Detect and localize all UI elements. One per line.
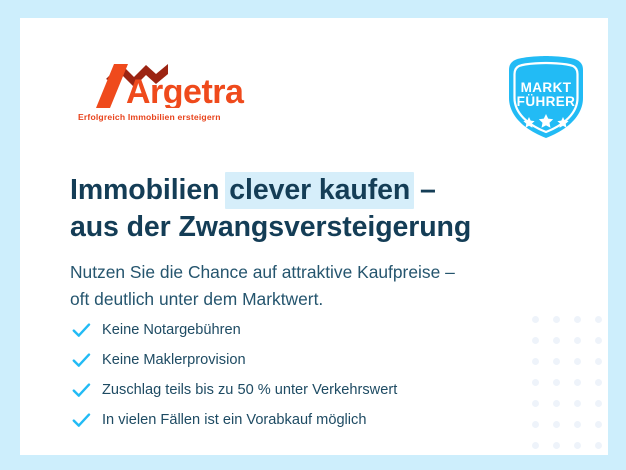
promo-card: Argetra Erfolgreich Immobilien ersteiger… (20, 18, 608, 455)
headline-line-2: aus der Zwangsversteigerung (70, 210, 590, 244)
decoration-dot (553, 316, 560, 323)
benefit-label: Keine Notargebühren (102, 321, 241, 339)
decoration-dot (574, 316, 581, 323)
dot-grid-decoration (532, 316, 608, 455)
decoration-dot (553, 379, 560, 386)
decoration-dot (574, 358, 581, 365)
check-icon (72, 353, 102, 368)
decoration-dot (553, 442, 560, 449)
decoration-dot (574, 442, 581, 449)
decoration-dot (553, 358, 560, 365)
page-title: Immobilien clever kaufen – aus der Zwang… (70, 173, 590, 244)
decoration-dot (595, 442, 602, 449)
headline-part-2: – (412, 174, 436, 206)
decoration-dot (595, 421, 602, 428)
decoration-dot (595, 400, 602, 407)
decoration-dot (574, 400, 581, 407)
argetra-logo[interactable]: Argetra Erfolgreich Immobilien ersteiger… (76, 62, 266, 124)
benefit-label: In vielen Fällen ist ein Vorabkauf mögli… (102, 411, 366, 429)
subheadline-line-1: Nutzen Sie die Chance auf attraktive Kau… (70, 262, 455, 282)
headline-part-1: Immobilien (70, 174, 227, 206)
check-icon (72, 323, 102, 338)
benefits-list: Keine Notargebühren Keine Maklerprovisio… (72, 315, 542, 435)
decoration-dot (553, 337, 560, 344)
decoration-dot (595, 316, 602, 323)
shield-icon (507, 54, 585, 140)
headline-highlight: clever kaufen (225, 172, 414, 209)
promo-banner: Argetra Erfolgreich Immobilien ersteiger… (0, 0, 626, 470)
decoration-dot (553, 421, 560, 428)
decoration-dot (595, 337, 602, 344)
market-leader-badge: MARKT FÜHRER (507, 54, 585, 140)
decoration-dot (574, 379, 581, 386)
subheadline: Nutzen Sie die Chance auf attraktive Kau… (70, 259, 570, 313)
decoration-dot (595, 379, 602, 386)
check-icon (72, 383, 102, 398)
argetra-logo-mark: Argetra (76, 62, 268, 108)
list-item: Zuschlag teils bis zu 50 % unter Verkehr… (72, 375, 542, 405)
svg-text:Argetra: Argetra (126, 73, 245, 108)
decoration-dot (553, 400, 560, 407)
check-icon (72, 413, 102, 428)
logo-tagline: Erfolgreich Immobilien ersteigern (78, 112, 221, 122)
decoration-dot (532, 442, 539, 449)
benefit-label: Zuschlag teils bis zu 50 % unter Verkehr… (102, 381, 397, 399)
benefit-label: Keine Maklerprovision (102, 351, 246, 369)
list-item: Keine Maklerprovision (72, 345, 542, 375)
list-item: In vielen Fällen ist ein Vorabkauf mögli… (72, 405, 542, 435)
decoration-dot (574, 421, 581, 428)
list-item: Keine Notargebühren (72, 315, 542, 345)
subheadline-line-2: oft deutlich unter dem Marktwert. (70, 289, 323, 309)
decoration-dot (574, 337, 581, 344)
decoration-dot (595, 358, 602, 365)
